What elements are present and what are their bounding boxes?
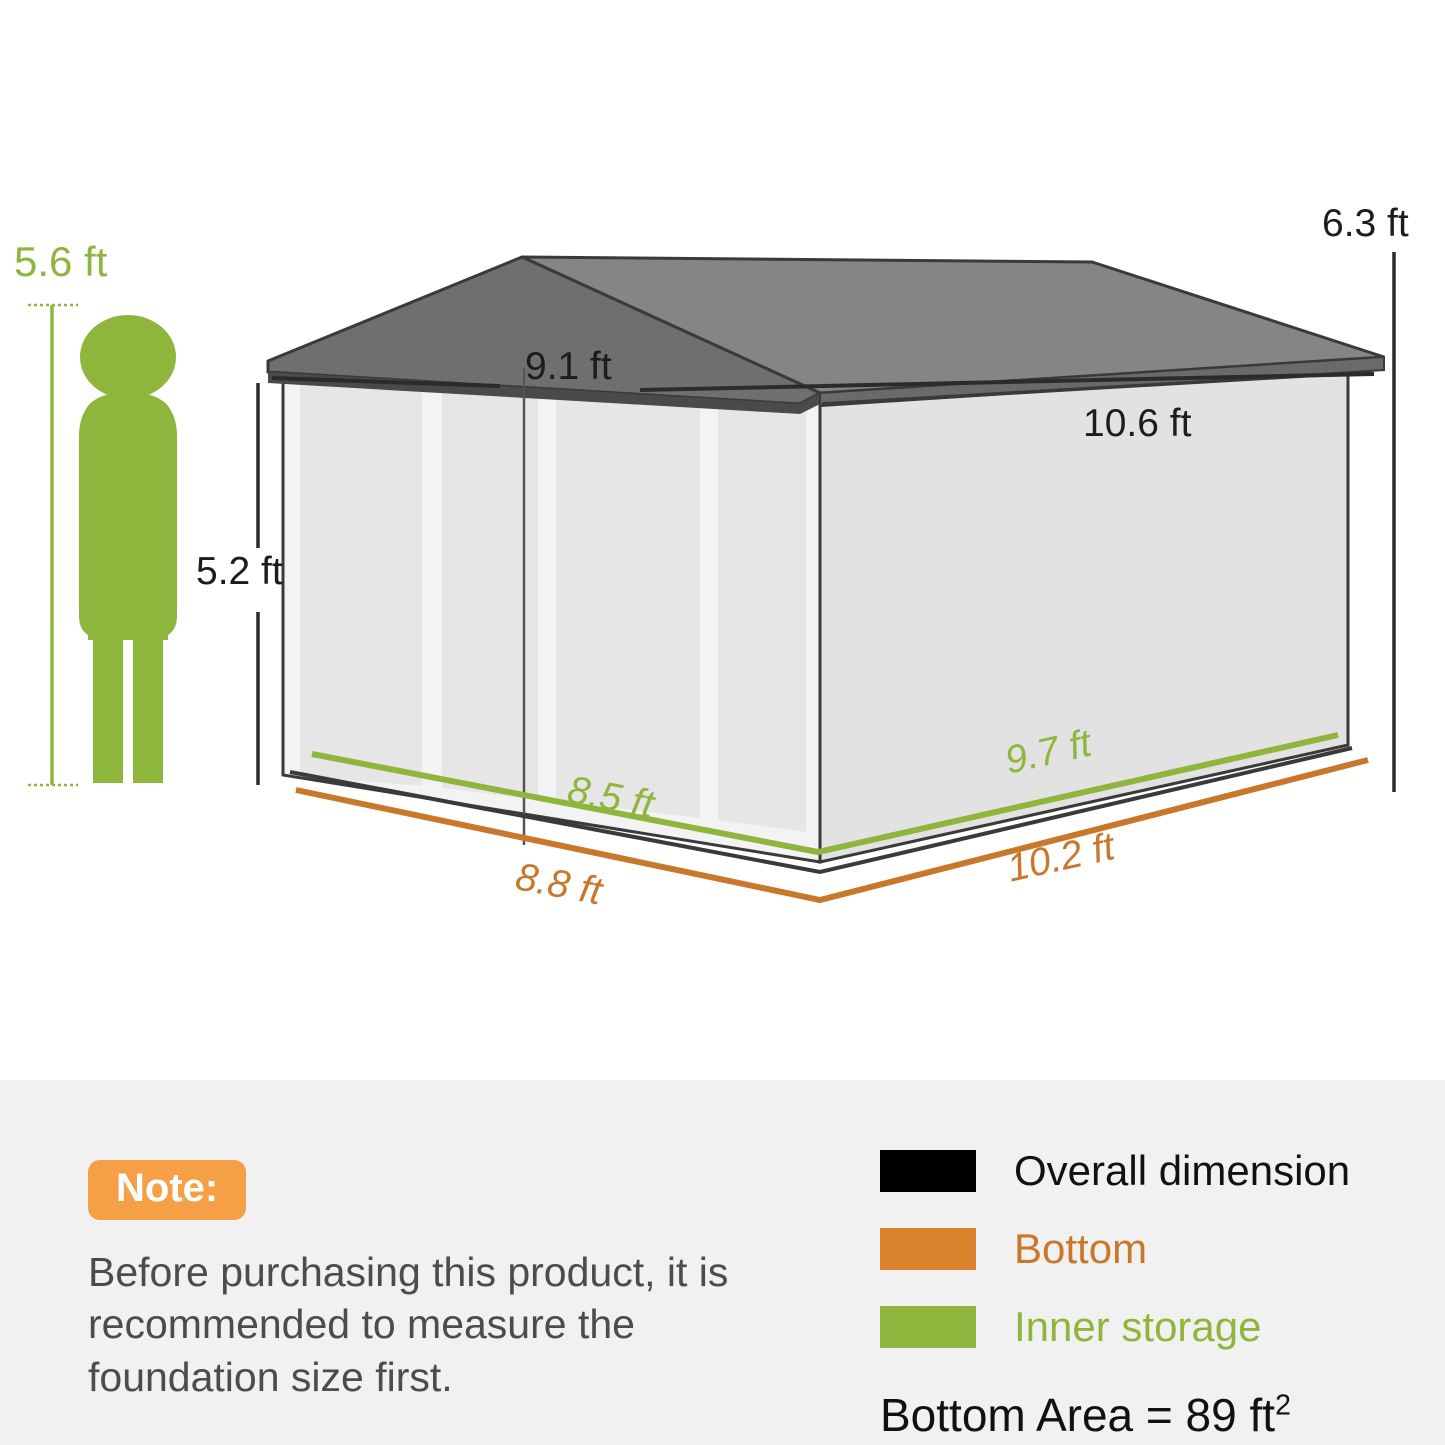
person-silhouette-icon <box>79 315 177 783</box>
note-badge: Note: <box>88 1160 246 1220</box>
gable-width-label: 9.1 ft <box>525 345 612 389</box>
legend-label-bottom: Bottom <box>1014 1228 1147 1270</box>
peak-height-label: 6.3 ft <box>1322 202 1409 246</box>
note-body-text: Before purchasing this product, it is re… <box>88 1246 768 1403</box>
person-height-dimension <box>28 305 78 785</box>
legend-swatch-bottom-icon <box>880 1228 976 1270</box>
diagram-panel: 5.6 ft 5.2 ft 9.1 ft 6.3 ft 10.6 ft 8.5 … <box>0 0 1445 1080</box>
bottom-area-exponent: 2 <box>1275 1390 1291 1422</box>
dimension-infographic: 5.6 ft 5.2 ft 9.1 ft 6.3 ft 10.6 ft 8.5 … <box>0 0 1445 1445</box>
shed-illustration <box>0 0 1445 1080</box>
legend-swatch-overall-icon <box>880 1150 976 1192</box>
legend-item-inner-storage: Inner storage <box>880 1288 1400 1366</box>
legend-item-bottom: Bottom <box>880 1210 1400 1288</box>
note-block: Note: Before purchasing this product, it… <box>88 1160 778 1403</box>
legend-item-overall-dimension: Overall dimension <box>880 1132 1400 1210</box>
wall-height-label: 5.2 ft <box>196 550 283 594</box>
legend-block: Overall dimension Bottom Inner storage B… <box>880 1132 1400 1442</box>
bottom-area-value: Bottom Area = 89 ft <box>880 1389 1275 1441</box>
overall-depth-label: 10.6 ft <box>1083 402 1191 446</box>
legend-swatch-inner-storage-icon <box>880 1306 976 1348</box>
bottom-area-text: Bottom Area = 89 ft2 <box>880 1388 1400 1442</box>
legend-label-inner-storage: Inner storage <box>1014 1306 1262 1348</box>
legend-label-overall: Overall dimension <box>1014 1150 1350 1192</box>
info-panel: Note: Before purchasing this product, it… <box>0 1080 1445 1445</box>
person-height-label: 5.6 ft <box>14 238 107 286</box>
